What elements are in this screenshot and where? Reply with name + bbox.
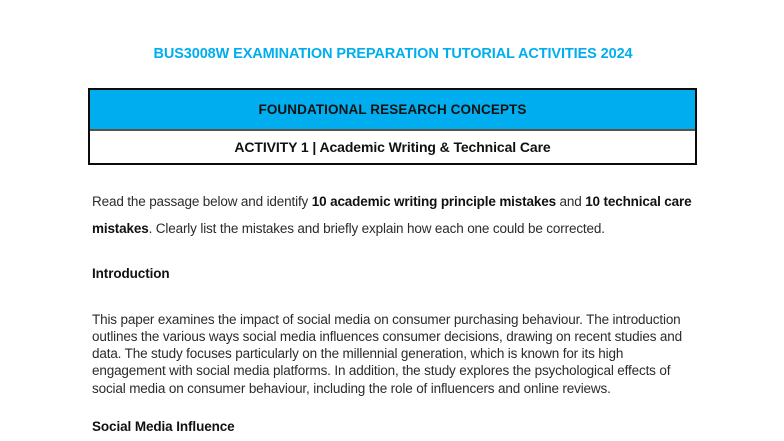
- activity-title-label: ACTIVITY 1 | Academic Writing & Technica…: [234, 139, 550, 155]
- instruction-bold-academic-writing: 10 academic writing principle mistakes: [312, 194, 556, 209]
- section-body-introduction: This paper examines the impact of social…: [92, 311, 698, 397]
- table-row-banner: FOUNDATIONAL RESEARCH CONCEPTS: [90, 90, 695, 131]
- document-page: BUS3008W EXAMINATION PREPARATION TUTORIA…: [0, 0, 784, 441]
- instruction-text-part3: . Clearly list the mistakes and briefly …: [149, 221, 605, 236]
- instruction-paragraph: Read the passage below and identify 10 a…: [92, 188, 696, 242]
- table-row-subject: ACTIVITY 1 | Academic Writing & Technica…: [90, 131, 695, 163]
- instruction-text-part2: and: [556, 194, 585, 209]
- activity-header-table: FOUNDATIONAL RESEARCH CONCEPTS ACTIVITY …: [88, 88, 697, 165]
- section-heading-introduction: Introduction: [92, 266, 170, 281]
- section-heading-social-media-influence: Social Media Influence: [92, 419, 235, 434]
- page-title: BUS3008W EXAMINATION PREPARATION TUTORIA…: [88, 44, 698, 64]
- foundational-research-concepts-label: FOUNDATIONAL RESEARCH CONCEPTS: [258, 102, 526, 117]
- instruction-text-part1: Read the passage below and identify: [92, 194, 312, 209]
